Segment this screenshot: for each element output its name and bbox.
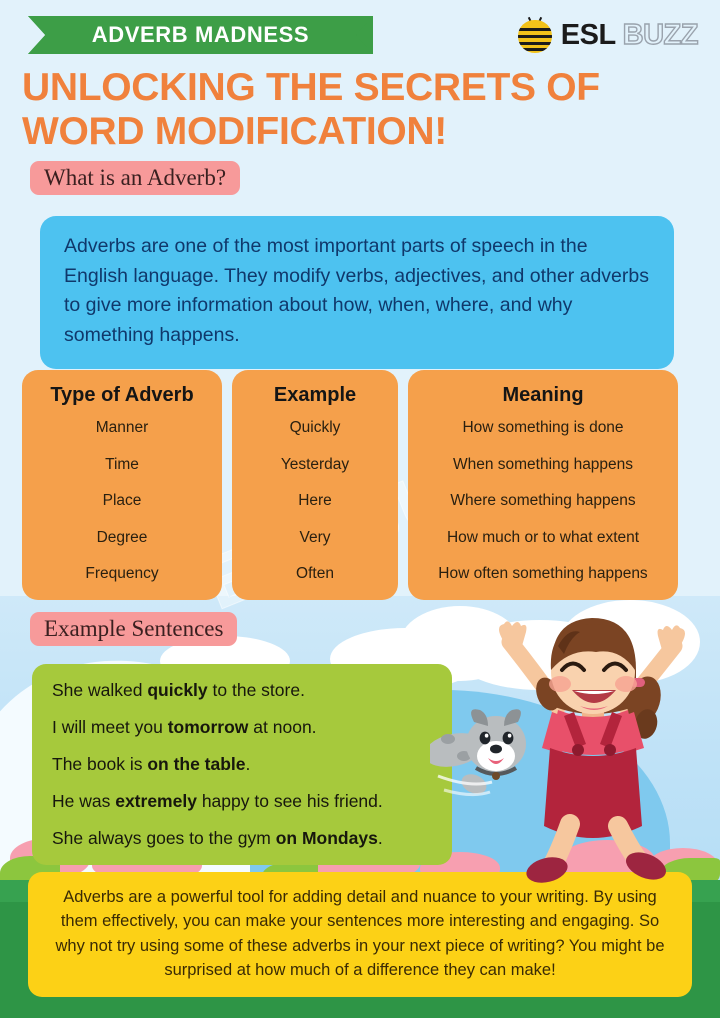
sentence-text-before: I will meet you xyxy=(52,717,168,737)
girl-dog-svg xyxy=(430,598,720,883)
table-cell: Time xyxy=(30,456,214,475)
example-sentence: She always goes to the gym on Mondays. xyxy=(52,828,434,850)
table-cell: Yesterday xyxy=(240,456,390,475)
sentence-text-after: . xyxy=(378,828,383,848)
sentence-text-after: at noon. xyxy=(248,717,316,737)
sentence-text-before: He was xyxy=(52,791,115,811)
column-header: Meaning xyxy=(416,384,670,407)
brand-buzz-text: BUZZ xyxy=(623,19,698,52)
sentence-adverb: tomorrow xyxy=(168,717,249,737)
conclusion-box: Adverbs are a powerful tool for adding d… xyxy=(28,872,692,997)
brand-esl-text: ESL xyxy=(561,19,616,52)
table-cell: Very xyxy=(240,529,390,548)
sentence-text-after: . xyxy=(246,754,251,774)
example-sentence: He was extremely happy to see his friend… xyxy=(52,791,434,813)
sentence-adverb: on Mondays xyxy=(276,828,378,848)
example-sentence: She walked quickly to the store. xyxy=(52,680,434,702)
illustration-girl-and-dog xyxy=(430,598,720,883)
page-title: UNLOCKING THE SECRETS OF WORD MODIFICATI… xyxy=(22,66,682,153)
ribbon-label: ADVERB MADNESS xyxy=(28,16,373,54)
jumping-girl-illustration xyxy=(499,618,685,883)
table-column-type: Type of Adverb Manner Time Place Degree … xyxy=(22,370,222,600)
example-sentence: The book is on the table. xyxy=(52,754,434,776)
sentence-text-before: The book is xyxy=(52,754,147,774)
table-cell: How often something happens xyxy=(416,565,670,584)
sentence-adverb: quickly xyxy=(147,680,207,700)
table-cell: How much or to what extent xyxy=(416,529,670,548)
table-cell: When something happens xyxy=(416,456,670,475)
table-cell: Degree xyxy=(30,529,214,548)
table-column-meaning: Meaning How something is done When somet… xyxy=(408,370,678,600)
sentence-adverb: extremely xyxy=(115,791,197,811)
column-header: Type of Adverb xyxy=(30,384,214,407)
example-sentence: I will meet you tomorrow at noon. xyxy=(52,717,434,739)
table-cell: Manner xyxy=(30,419,214,438)
header: ADVERB MADNESS ESL BUZZ xyxy=(0,12,720,60)
table-column-example: Example Quickly Yesterday Here Very Ofte… xyxy=(232,370,398,600)
intro-definition-box: Adverbs are one of the most important pa… xyxy=(40,216,674,369)
example-sentences-box: She walked quickly to the store. I will … xyxy=(32,664,452,865)
section-badge-what-is-adverb: What is an Adverb? xyxy=(30,161,240,195)
table-cell: Often xyxy=(240,565,390,584)
table-cell: Where something happens xyxy=(416,492,670,511)
sentence-text-before: She always goes to the gym xyxy=(52,828,276,848)
sentence-adverb: on the table xyxy=(147,754,245,774)
sentence-text-after: to the store. xyxy=(208,680,305,700)
running-dog-illustration xyxy=(430,709,526,797)
column-header: Example xyxy=(240,384,390,407)
section-badge-example-sentences: Example Sentences xyxy=(30,612,237,646)
brand-logo: ESL BUZZ xyxy=(518,12,698,58)
bee-icon xyxy=(518,17,552,53)
table-cell: Place xyxy=(30,492,214,511)
adverb-table: Type of Adverb Manner Time Place Degree … xyxy=(0,370,720,600)
table-cell: Here xyxy=(240,492,390,511)
table-cell: How something is done xyxy=(416,419,670,438)
sentence-text-before: She walked xyxy=(52,680,147,700)
table-cell: Frequency xyxy=(30,565,214,584)
sentence-text-after: happy to see his friend. xyxy=(197,791,383,811)
ribbon-banner: ADVERB MADNESS xyxy=(28,16,373,54)
table-cell: Quickly xyxy=(240,419,390,438)
